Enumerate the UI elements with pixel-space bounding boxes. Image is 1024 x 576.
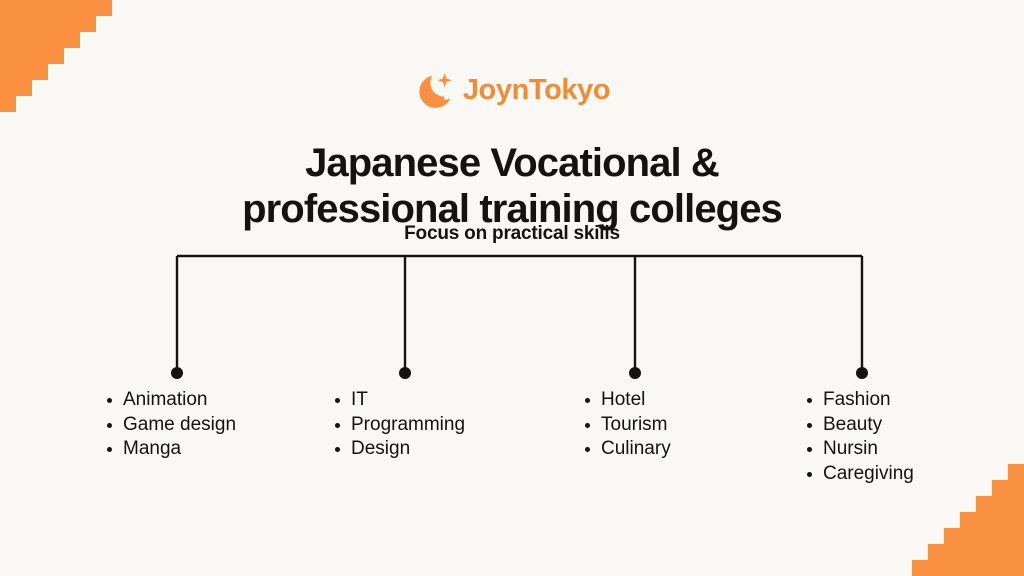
list-item: Programming (333, 413, 465, 438)
category-column-it-design: IT Programming Design (333, 388, 465, 462)
tree-node-dot-4 (856, 367, 868, 379)
list-item: Manga (105, 437, 236, 462)
category-list: Animation Game design Manga (105, 388, 236, 462)
slide-canvas: JoynTokyo Japanese Vocational & professi… (0, 0, 1024, 576)
category-columns: Animation Game design Manga IT Programmi… (0, 388, 1024, 508)
list-item: Game design (105, 413, 236, 438)
list-item: Animation (105, 388, 236, 413)
list-item: Caregiving (805, 462, 914, 487)
list-item: Hotel (583, 388, 671, 413)
category-list: IT Programming Design (333, 388, 465, 462)
list-item: Design (333, 437, 465, 462)
list-item: Beauty (805, 413, 914, 438)
list-item: Nursin (805, 437, 914, 462)
category-list: Fashion Beauty Nursin Caregiving (805, 388, 914, 486)
category-list: Hotel Tourism Culinary (583, 388, 671, 462)
list-item: Culinary (583, 437, 671, 462)
tree-node-dot-2 (399, 367, 411, 379)
category-column-beauty-care: Fashion Beauty Nursin Caregiving (805, 388, 914, 486)
category-column-hospitality: Hotel Tourism Culinary (583, 388, 671, 462)
tree-node-dot-3 (629, 367, 641, 379)
list-item: Fashion (805, 388, 914, 413)
list-item: Tourism (583, 413, 671, 438)
tree-node-dot-1 (171, 367, 183, 379)
list-item: IT (333, 388, 465, 413)
category-column-animation-media: Animation Game design Manga (105, 388, 236, 462)
